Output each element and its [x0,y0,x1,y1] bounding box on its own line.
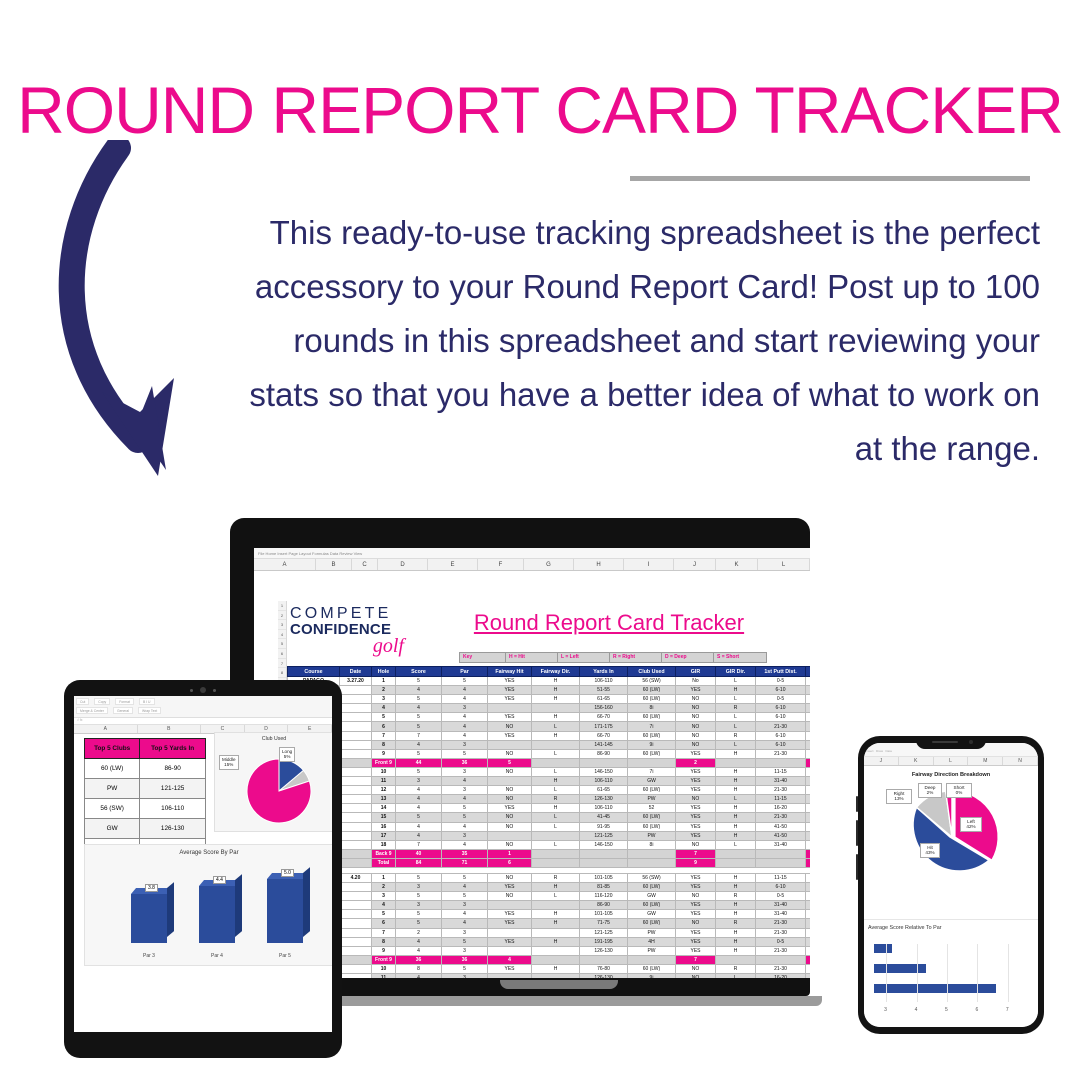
cell-tp[interactable]: 2 [806,901,811,910]
cell-gir[interactable]: YES [676,928,716,937]
cell-score[interactable]: 5 [396,767,442,776]
cell-hole[interactable]: 4 [372,704,396,713]
cell-tp[interactable]: 2 [806,695,811,704]
cell-p1[interactable]: 31-40 [756,910,806,919]
cell-tp[interactable]: 2 [806,767,811,776]
cell-score[interactable]: 4 [396,740,442,749]
cell-fd[interactable]: H [532,777,580,786]
cell-score[interactable]: 7 [396,840,442,849]
cell-par[interactable]: 3 [442,704,488,713]
cell-gd[interactable]: H [716,813,756,822]
cell-gir[interactable]: YES [676,822,716,831]
cell-date[interactable] [340,892,372,901]
cell-par[interactable]: 4 [442,883,488,892]
cell-gd[interactable]: H [716,767,756,776]
cell-p1[interactable]: 0-5 [756,892,806,901]
cell-gir[interactable]: YES [676,937,716,946]
cell-yi[interactable]: 141-145 [580,740,628,749]
cell-tp[interactable]: 2 [806,919,811,928]
cell-hole[interactable]: 8 [372,937,396,946]
cell-date[interactable] [340,813,372,822]
cell-par[interactable]: 4 [442,919,488,928]
cell-gd[interactable]: H [716,901,756,910]
cell-cu[interactable]: 52 [628,804,676,813]
cell-yi[interactable]: 51-55 [580,686,628,695]
table-row[interactable]: 955NOL86-9060 (LW)YESH21-302 [288,749,811,758]
cell-date[interactable] [340,831,372,840]
cell-tp[interactable]: 3 [806,910,811,919]
cell-fd[interactable]: H [532,713,580,722]
table-row[interactable]: 43386-9060 (LW)YESH31-402 [288,901,811,910]
cell-gir[interactable]: No [676,677,716,686]
top5-table[interactable]: Top 5 ClubsTop 5 Yards In 60 (LW)86-90PW… [84,738,206,859]
cell-date[interactable] [340,901,372,910]
cell-cu[interactable]: 60 (LW) [628,731,676,740]
cell-yi[interactable]: 106-110 [580,804,628,813]
cell-cu[interactable]: 56 (SW) [628,677,676,686]
cell-gd[interactable]: H [716,804,756,813]
cell-p1[interactable]: 6-10 [756,731,806,740]
cell-yi[interactable]: 146-150 [580,840,628,849]
cell-fh[interactable]: NO [488,813,532,822]
cell-date[interactable] [340,749,372,758]
cell-cu[interactable]: 60 (LW) [628,822,676,831]
cell-fh[interactable]: NO [488,840,532,849]
column-header-k[interactable]: K [716,559,758,570]
tablet-formula-bar[interactable]: √ fx [74,718,332,725]
cell-cu[interactable]: PW [628,928,676,937]
cell-p1[interactable]: 6-10 [756,686,806,695]
table-row[interactable]: 654YESH71-7560 (LW)NOR21-302 [288,919,811,928]
cell-fd[interactable]: L [532,786,580,795]
cell-gir[interactable]: NO [676,704,716,713]
column-yards-in[interactable]: Yards In [580,667,628,677]
top5-cell[interactable]: 106-110 [140,799,206,819]
cell-p1[interactable]: 16-20 [756,804,806,813]
cell-yi[interactable]: 66-70 [580,731,628,740]
cell-gd[interactable]: H [716,686,756,695]
cell-tp[interactable]: 2 [806,813,811,822]
cell-date[interactable] [340,777,372,786]
cell-hole[interactable]: 10 [372,767,396,776]
cell-fh[interactable]: YES [488,677,532,686]
top5-cell[interactable]: 60 (LW) [85,759,140,779]
column-fairway-hit[interactable]: Fairway Hit [488,667,532,677]
cell-par[interactable]: 5 [442,937,488,946]
cell-fd[interactable]: H [532,964,580,973]
column-header-a[interactable]: A [254,559,316,570]
table-row[interactable]: 1053NOL146-1507iYESH11-152 [288,767,811,776]
cell-p1[interactable]: 21-30 [756,813,806,822]
cell-p1[interactable]: 6-10 [756,883,806,892]
cell-score[interactable]: 2 [396,928,442,937]
column-total-putts[interactable]: Total Putts [806,667,811,677]
cell-par[interactable]: 5 [442,749,488,758]
cell-tp[interactable]: 2 [806,704,811,713]
round-report-table[interactable]: CourseDateHoleScoreParFairway HitFairway… [287,666,810,978]
column-header-l[interactable]: L [758,559,810,570]
top5-row[interactable]: PW121-125 [85,779,206,799]
cell-tp[interactable]: 2 [806,749,811,758]
cell-fh[interactable]: NO [488,822,532,831]
cell-par[interactable]: 3 [442,946,488,955]
cell-gir[interactable]: NO [676,974,716,979]
cell-cu[interactable]: 60 (LW) [628,919,676,928]
table-row[interactable]: 1743121-125PWYESH41-503 [288,831,811,840]
cell-date[interactable] [340,804,372,813]
column-gir-dir-[interactable]: GIR Dir. [716,667,756,677]
phone-column-header-l[interactable]: L [934,757,969,765]
cell-p1[interactable]: 21-30 [756,946,806,955]
cell-p1[interactable]: 0-5 [756,937,806,946]
cell-gd[interactable]: H [716,946,756,955]
cell-score[interactable]: 4 [396,686,442,695]
cell-score[interactable]: 4 [396,974,442,979]
cell-cu[interactable]: 60 (LW) [628,813,676,822]
top5-header-cell[interactable]: Top 5 Yards In [140,739,206,759]
cell-gir[interactable]: YES [676,777,716,786]
table-row[interactable]: 1445YESH106-11052YESH16-202 [288,804,811,813]
cell-tp[interactable]: 1 [806,795,811,804]
cell-p1[interactable]: 21-30 [756,786,806,795]
column-header-d[interactable]: D [378,559,428,570]
cell-tp[interactable]: 1 [806,677,811,686]
cell-gir[interactable]: NO [676,713,716,722]
cell-par[interactable]: 4 [442,686,488,695]
cell-hole[interactable]: 18 [372,840,396,849]
cell-hole[interactable]: 5 [372,910,396,919]
table-row[interactable]: 234YESH81-8560 (LW)YESH6-101 [288,883,811,892]
cell-gd[interactable]: L [716,722,756,731]
cell-par[interactable]: 4 [442,722,488,731]
cell-hole[interactable]: 12 [372,786,396,795]
cell-hole[interactable]: 10 [372,964,396,973]
cell-fd[interactable]: L [532,822,580,831]
cell-date[interactable] [340,974,372,979]
cell-fd[interactable]: H [532,686,580,695]
cell-cu[interactable]: 60 (LW) [628,713,676,722]
cell-hole[interactable]: 5 [372,713,396,722]
cell-p1[interactable]: 11-15 [756,873,806,882]
cell-p1[interactable]: 6-10 [756,704,806,713]
cell-cu[interactable]: 8i [628,704,676,713]
phone-column-header-j[interactable]: J [864,757,899,765]
row-header-4[interactable]: 4 [278,630,286,640]
cell-score[interactable]: 5 [396,677,442,686]
cell-fh[interactable]: YES [488,883,532,892]
cell-par[interactable]: 3 [442,786,488,795]
cell-tp[interactable]: 2 [806,822,811,831]
cell-tp[interactable]: 3 [806,964,811,973]
cell-cu[interactable]: PW [628,795,676,804]
cell-tp[interactable]: 2 [806,731,811,740]
cell-fd[interactable]: L [532,840,580,849]
table-row[interactable]: 554YESH66-7060 (LW)NOL6-102 [288,713,811,722]
table-row[interactable]: 1344NOR126-130PWNOL11-151 [288,795,811,804]
cell-score[interactable]: 4 [396,795,442,804]
table-row[interactable]: 1555NOL41-4560 (LW)YESH21-302 [288,813,811,822]
cell-cu[interactable]: 9i [628,740,676,749]
cell-hole[interactable]: 2 [372,686,396,695]
cell-par[interactable]: 5 [442,804,488,813]
cell-gir[interactable]: YES [676,813,716,822]
cell-fh[interactable]: NO [488,795,532,804]
cell-date[interactable] [340,919,372,928]
cell-gd[interactable]: R [716,704,756,713]
ribbon-button[interactable]: Cut [76,698,89,705]
cell-gd[interactable]: L [716,840,756,849]
cell-score[interactable]: 4 [396,831,442,840]
cell-gd[interactable]: H [716,928,756,937]
ribbon-button[interactable]: Format [115,698,134,705]
cell-gd[interactable]: L [716,974,756,979]
cell-yi[interactable]: 101-105 [580,873,628,882]
cell-date[interactable] [340,713,372,722]
cell-par[interactable]: 3 [442,928,488,937]
column-gir[interactable]: GIR [676,667,716,677]
phone-volume-down-button[interactable] [856,820,858,846]
cell-fh[interactable]: NO [488,767,532,776]
ribbon-button[interactable]: Copy [94,698,110,705]
cell-par[interactable]: 5 [442,964,488,973]
cell-hole[interactable]: 1 [372,873,396,882]
cell-cu[interactable]: 60 (LW) [628,686,676,695]
column-date[interactable]: Date [340,667,372,677]
cell-fd[interactable]: L [532,813,580,822]
cell-gir[interactable]: YES [676,873,716,882]
ribbon-button[interactable]: General [113,707,133,714]
table-row[interactable]: 1243NOL61-6560 (LW)YESH21-302 [288,786,811,795]
cell-date[interactable] [340,964,372,973]
cell-gir[interactable]: NO [676,919,716,928]
ribbon-button[interactable]: Wrap Text [138,707,161,714]
column-header-b[interactable]: B [316,559,352,570]
cell-hole[interactable]: 9 [372,946,396,955]
cell-par[interactable]: 5 [442,892,488,901]
column-header-h[interactable]: H [574,559,624,570]
cell-score[interactable]: 4 [396,704,442,713]
cell-gd[interactable]: L [716,740,756,749]
cell-par[interactable]: 5 [442,873,488,882]
cell-gd[interactable]: R [716,892,756,901]
phone-silent-switch[interactable] [856,854,858,880]
cell-fh[interactable]: YES [488,695,532,704]
cell-score[interactable]: 4 [396,937,442,946]
cell-date[interactable] [340,910,372,919]
column-fairway-dir-[interactable]: Fairway Dir. [532,667,580,677]
cell-score[interactable]: 5 [396,722,442,731]
cell-yi[interactable]: 171-175 [580,722,628,731]
cell-par[interactable]: 4 [442,910,488,919]
cell-yi[interactable]: 101-105 [580,910,628,919]
cell-cu[interactable]: 60 (LW) [628,695,676,704]
cell-hole[interactable]: 11 [372,777,396,786]
cell-fh[interactable]: NO [488,873,532,882]
cell-hole[interactable]: 1 [372,677,396,686]
cell-gir[interactable]: YES [676,804,716,813]
cell-p1[interactable]: 21-30 [756,919,806,928]
cell-fh[interactable] [488,704,532,713]
column-par[interactable]: Par [442,667,488,677]
cell-hole[interactable]: 3 [372,892,396,901]
cell-fh[interactable] [488,777,532,786]
phone-screen[interactable]: Insert Draw Data JKLMN Fairway Direction… [864,743,1038,1027]
cell-gir[interactable]: YES [676,686,716,695]
cell-gd[interactable]: L [716,713,756,722]
column-score[interactable]: Score [396,667,442,677]
cell-tp[interactable]: 2 [806,777,811,786]
cell-gir[interactable]: YES [676,831,716,840]
cell-yi[interactable]: 81-85 [580,883,628,892]
cell-tp[interactable]: 1 [806,928,811,937]
cell-p1[interactable]: 21-30 [756,928,806,937]
cell-hole[interactable]: 6 [372,919,396,928]
table-row[interactable]: 354YESH61-6560 (LW)NOL0-52 [288,695,811,704]
cell-gir[interactable]: NO [676,795,716,804]
cell-fd[interactable] [532,831,580,840]
cell-fh[interactable]: YES [488,964,532,973]
cell-gir[interactable]: YES [676,749,716,758]
cell-fd[interactable]: H [532,919,580,928]
column-header-c[interactable]: C [352,559,378,570]
top5-cell[interactable]: 126-130 [140,819,206,839]
column-header-row[interactable]: ABCDEFGHIJKLMNOPQR [254,559,810,571]
top5-cell[interactable]: 86-90 [140,759,206,779]
table-row[interactable]: 1644NOL91-9560 (LW)YESH41-502 [288,822,811,831]
cell-yi[interactable]: 106-110 [580,677,628,686]
cell-p1[interactable]: 0-5 [756,695,806,704]
cell-fh[interactable] [488,740,532,749]
cell-hole[interactable]: 8 [372,740,396,749]
cell-gd[interactable]: L [716,795,756,804]
cell-fd[interactable]: L [532,767,580,776]
ribbon-button[interactable]: Merge & Center [76,707,108,714]
cell-gd[interactable]: H [716,749,756,758]
top5-row[interactable]: 60 (LW)86-90 [85,759,206,779]
cell-hole[interactable]: 4 [372,901,396,910]
cell-fd[interactable]: H [532,910,580,919]
cell-cu[interactable]: GW [628,910,676,919]
cell-p1[interactable]: 21-30 [756,722,806,731]
cell-score[interactable]: 3 [396,901,442,910]
cell-fh[interactable] [488,928,532,937]
cell-par[interactable]: 4 [442,840,488,849]
cell-gir[interactable]: NO [676,892,716,901]
cell-hole[interactable]: 17 [372,831,396,840]
cell-par[interactable]: 4 [442,822,488,831]
top5-cell[interactable]: 121-125 [140,779,206,799]
cell-yi[interactable]: 106-110 [580,777,628,786]
cell-p1[interactable]: 41-50 [756,831,806,840]
cell-fh[interactable]: YES [488,919,532,928]
cell-date[interactable] [340,937,372,946]
column-course[interactable]: Course [288,667,340,677]
cell-tp[interactable]: 2 [806,974,811,979]
cell-cu[interactable]: 9i [628,974,676,979]
top5-cell[interactable]: 56 (SW) [85,799,140,819]
cell-tp[interactable]: 1 [806,937,811,946]
tablet-screen[interactable]: CutCopyFormatB I U Merge & CenterGeneral… [74,696,332,1032]
cell-yi[interactable]: 116-120 [580,892,628,901]
cell-fd[interactable]: H [532,695,580,704]
table-row[interactable]: 1134H106-110GWYESH31-402 [288,777,811,786]
cell-fh[interactable]: NO [488,892,532,901]
table-row[interactable]: 4.20155NOR101-10556 (SW)YESH11-152 [288,873,811,882]
cell-hole[interactable]: 7 [372,928,396,937]
cell-fh[interactable] [488,974,532,979]
excel-toolbar[interactable]: File Home Insert Page Layout Formulas Da… [254,548,810,559]
phone-column-header-n[interactable]: N [1003,757,1038,765]
cell-hole[interactable]: 2 [372,883,396,892]
cell-date[interactable] [340,767,372,776]
cell-score[interactable]: 5 [396,713,442,722]
cell-fd[interactable]: L [532,722,580,731]
table-row[interactable]: 654NOL171-1757iNOL21-302 [288,722,811,731]
cell-fd[interactable] [532,946,580,955]
cell-cu[interactable]: 56 (SW) [628,873,676,882]
cell-gir[interactable]: YES [676,767,716,776]
phone-column-header-k[interactable]: K [899,757,934,765]
column-header-f[interactable]: F [478,559,524,570]
cell-fd[interactable]: L [532,749,580,758]
table-row[interactable]: 943126-130PWYESH21-303 [288,946,811,955]
cell-cu[interactable]: GW [628,777,676,786]
cell-cu[interactable]: 60 (LW) [628,786,676,795]
cell-tp[interactable]: 2 [806,786,811,795]
cell-gir[interactable]: YES [676,786,716,795]
cell-gd[interactable]: H [716,910,756,919]
cell-par[interactable]: 3 [442,901,488,910]
cell-cu[interactable]: 60 (LW) [628,749,676,758]
table-row[interactable]: PAPAGO3.27.20155YESH106-11056 (SW)NoL0-5… [288,677,811,686]
cell-yi[interactable]: 71-75 [580,919,628,928]
cell-gir[interactable]: NO [676,722,716,731]
cell-score[interactable]: 5 [396,910,442,919]
cell-tp[interactable]: 1 [806,892,811,901]
cell-yi[interactable]: 156-160 [580,704,628,713]
cell-par[interactable]: 3 [442,974,488,979]
cell-score[interactable]: 5 [396,695,442,704]
cell-p1[interactable]: 6-10 [756,740,806,749]
cell-yi[interactable]: 121-125 [580,831,628,840]
table-row[interactable]: 443156-1608iNOR6-102 [288,704,811,713]
cell-score[interactable]: 5 [396,813,442,822]
cell-score[interactable]: 3 [396,883,442,892]
cell-yi[interactable]: 86-90 [580,901,628,910]
cell-cu[interactable]: 4H [628,937,676,946]
cell-date[interactable] [340,928,372,937]
cell-hole[interactable]: 6 [372,722,396,731]
cell-fd[interactable]: H [532,731,580,740]
cell-date[interactable] [340,946,372,955]
cell-hole[interactable]: 13 [372,795,396,804]
phone-column-header-row[interactable]: JKLMN [864,757,1038,766]
row-header-2[interactable]: 2 [278,611,286,621]
column-header-e[interactable]: E [428,559,478,570]
cell-p1[interactable]: 31-40 [756,777,806,786]
cell-cu[interactable]: 60 (LW) [628,901,676,910]
cell-tp[interactable]: 2 [806,713,811,722]
cell-fh[interactable]: YES [488,937,532,946]
cell-score[interactable]: 7 [396,731,442,740]
cell-date[interactable] [340,686,372,695]
cell-par[interactable]: 3 [442,767,488,776]
cell-gd[interactable]: R [716,964,756,973]
cell-fh[interactable] [488,831,532,840]
cell-p1[interactable]: 11-15 [756,795,806,804]
cell-gir[interactable]: NO [676,731,716,740]
cell-hole[interactable]: 16 [372,822,396,831]
